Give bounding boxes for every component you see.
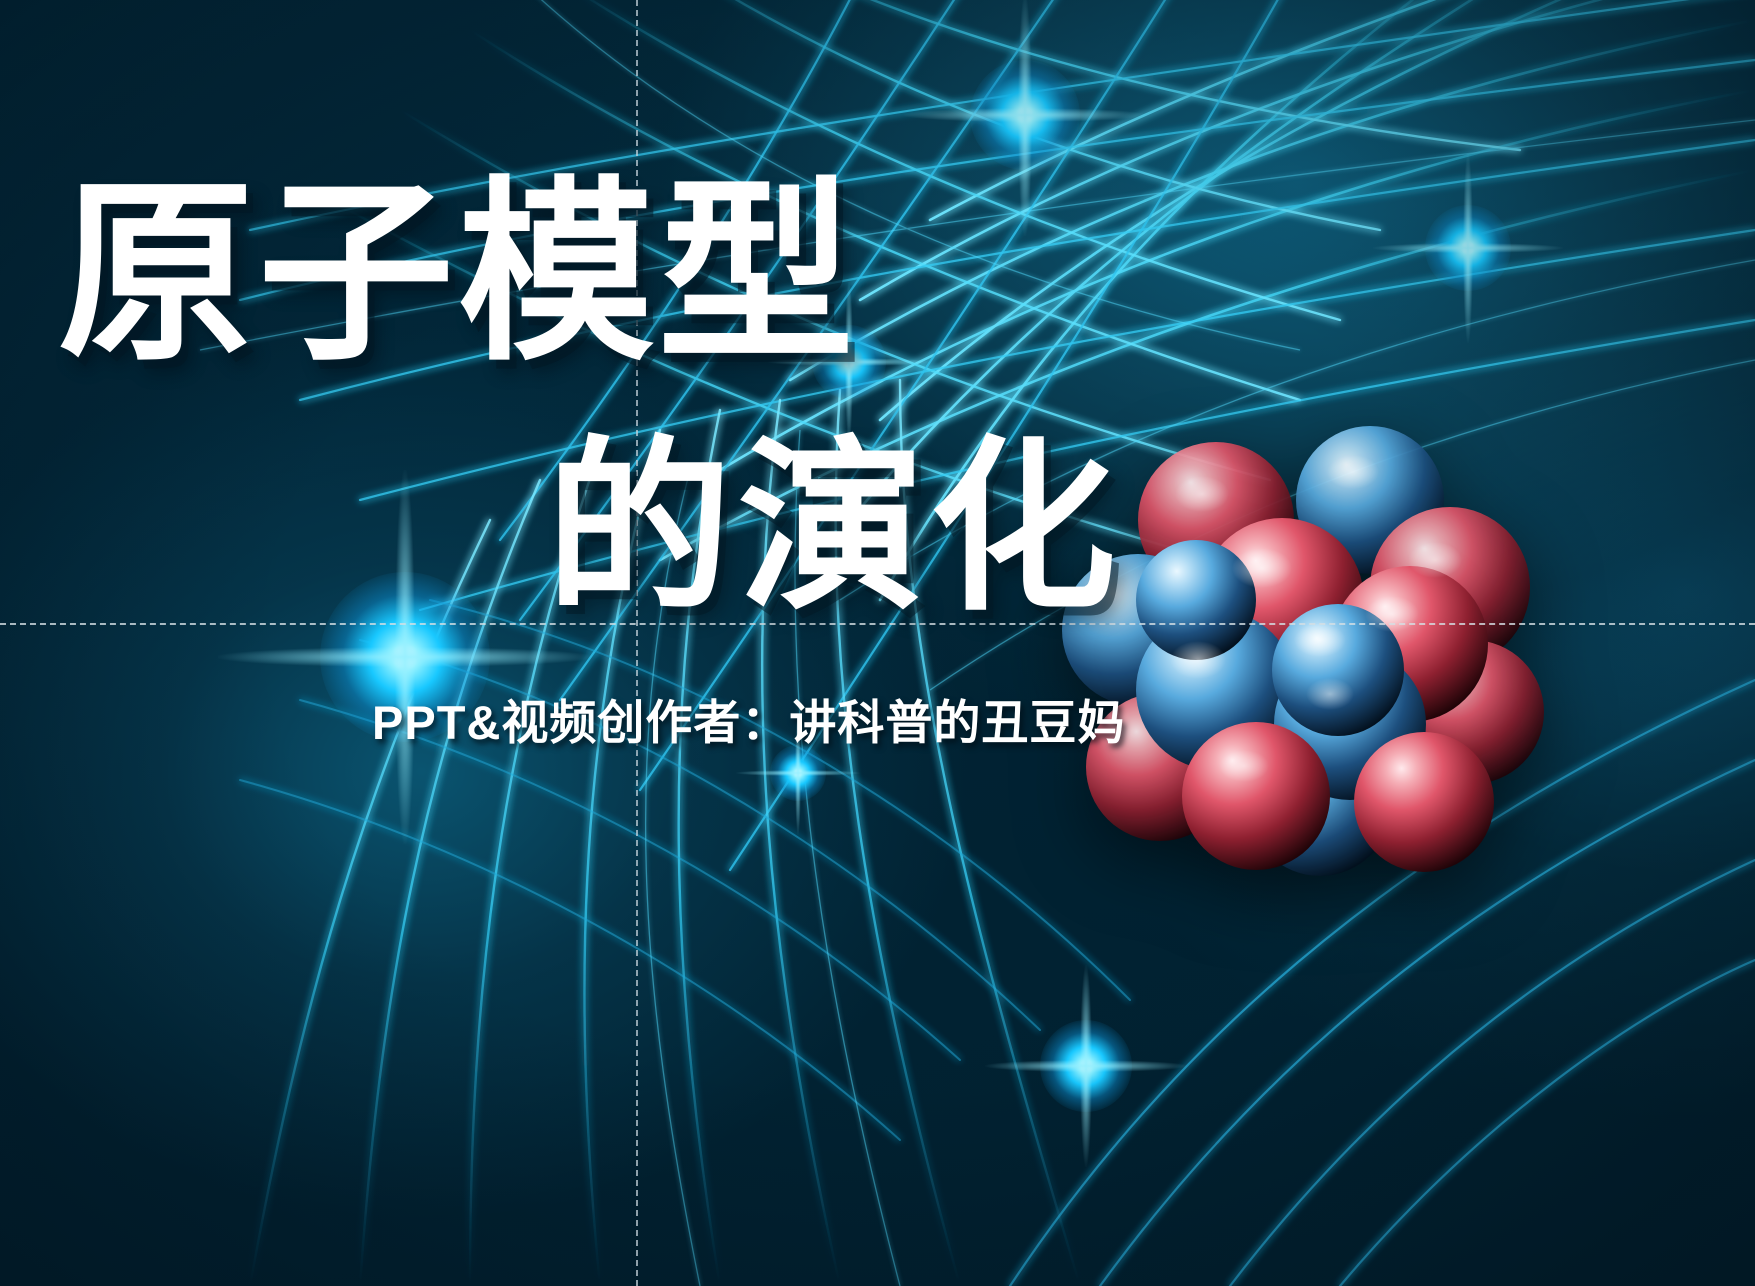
subtitle-credit: PPT&视频创作者：讲科普的丑豆妈 <box>372 699 1125 746</box>
title-slide: 原子模型 的演化 PPT&视频创作者：讲科普的丑豆妈 <box>0 0 1755 1286</box>
page-title-line-1: 原子模型 <box>58 176 858 372</box>
page-title-line-2: 的演化 <box>546 436 1122 622</box>
